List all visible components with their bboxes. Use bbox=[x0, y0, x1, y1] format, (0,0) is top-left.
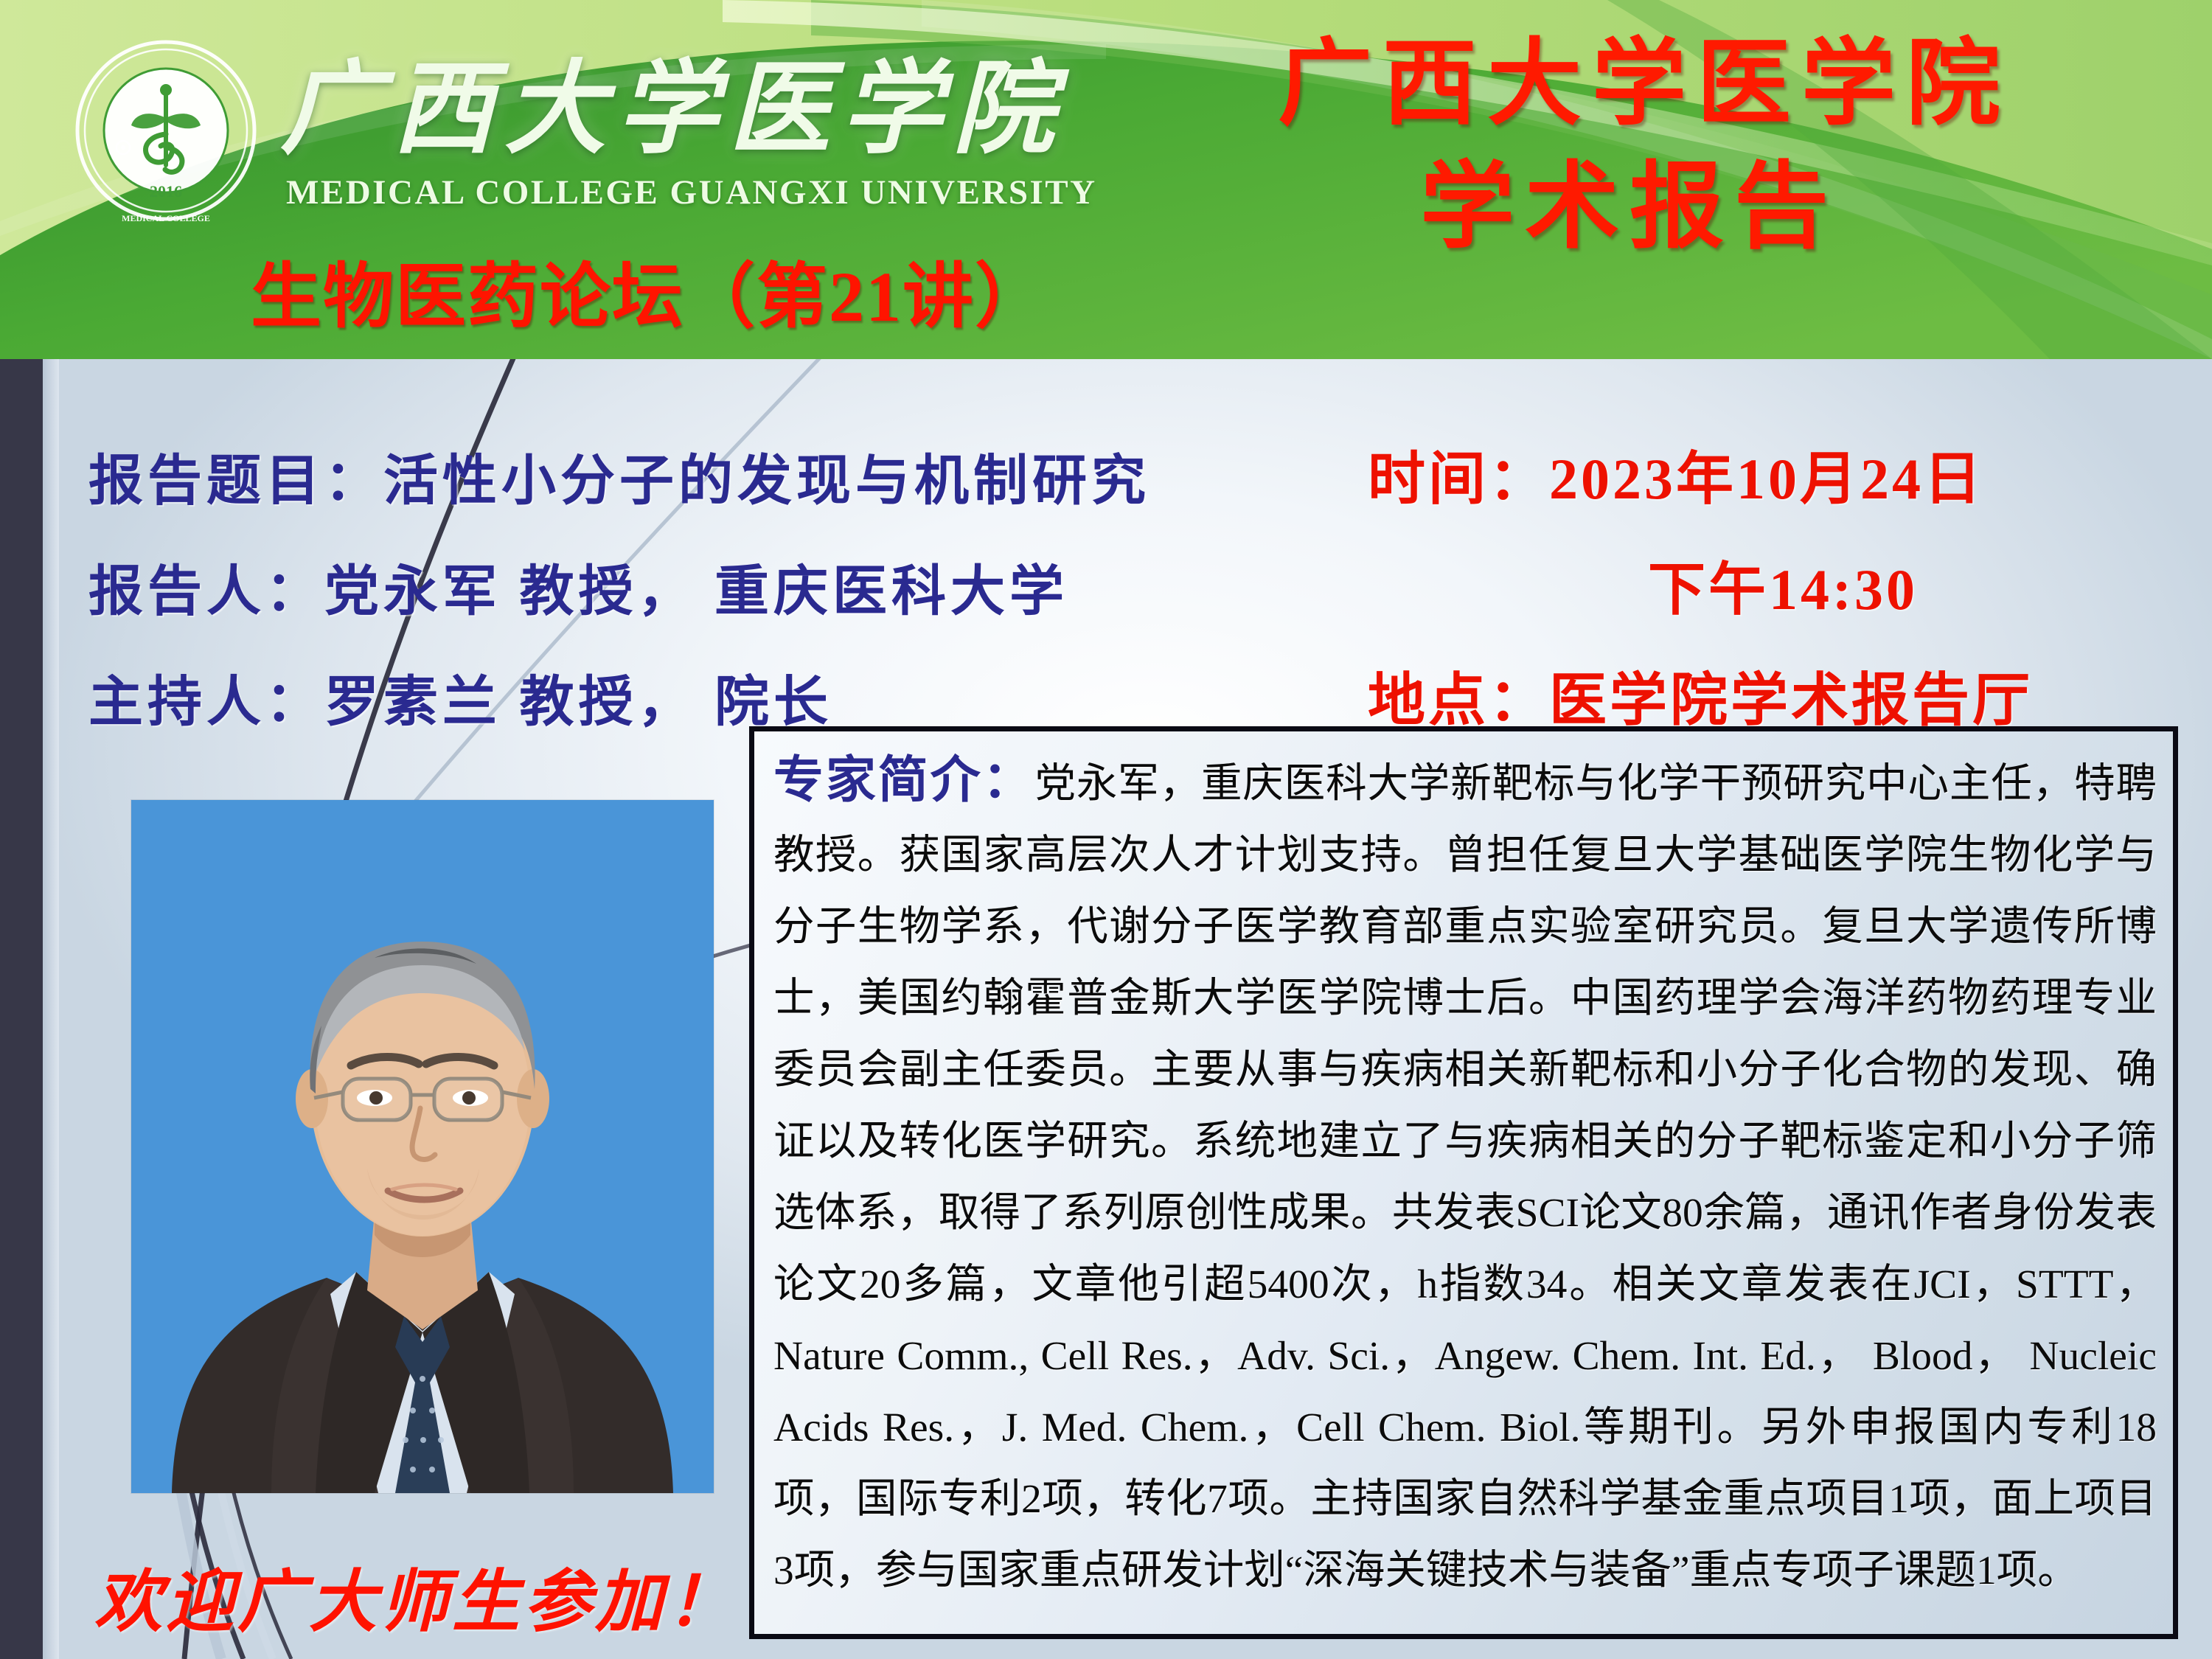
place-value: 医学院学术报告厅 bbox=[1549, 668, 2033, 732]
place-label: 地点： bbox=[1368, 668, 1549, 732]
svg-text:MEDICAL COLLEGE: MEDICAL COLLEGE bbox=[122, 213, 210, 223]
welcome-message: 欢迎广大师生参加！ bbox=[94, 1547, 728, 1645]
college-emblem-logo: 2016 MEDICAL COLLEGE bbox=[74, 38, 258, 223]
datetime-row: 时间：2023年10月24日 bbox=[1368, 433, 1984, 515]
poster-heading-line1: 广西大学医学院 bbox=[1150, 35, 2138, 133]
speaker-portrait-photo bbox=[131, 800, 714, 1493]
time-date-value: 2023年10月24日 bbox=[1549, 447, 1984, 511]
host-value: 罗素兰 教授， 院长 bbox=[324, 672, 832, 733]
speaker-bio-box: 专家简介：党永军，重庆医科大学新靶标与化学干预研究中心主任，特聘教授。获国家高层… bbox=[749, 726, 2178, 1639]
venue-row: 地点：医学院学术报告厅 bbox=[1368, 654, 2033, 737]
host-row: 主持人：罗素兰 教授， 院长 bbox=[88, 658, 832, 737]
speaker-bio-text: 专家简介：党永军，重庆医科大学新靶标与化学干预研究中心主任，特聘教授。获国家高层… bbox=[773, 745, 2157, 1607]
header-banner: 2016 MEDICAL COLLEGE 广西大学医学院 MEDICAL COL… bbox=[0, 0, 2212, 359]
speaker-label: 报告人： bbox=[88, 562, 324, 622]
speaker-row: 报告人：党永军 教授， 重庆医科大学 bbox=[88, 547, 1068, 626]
speaker-bio-body: 党永军，重庆医科大学新靶标与化学干预研究中心主任，特聘教授。获国家高层次人才计划… bbox=[773, 762, 2157, 1593]
speaker-value: 党永军 教授， 重庆医科大学 bbox=[324, 562, 1068, 622]
talk-title-row: 报告题目：活性小分子的发现与机制研究 bbox=[88, 437, 1150, 515]
talk-title-label: 报告题目： bbox=[88, 451, 383, 512]
talk-info-block: 报告题目：活性小分子的发现与机制研究 报告人：党永军 教授， 重庆医科大学 主持… bbox=[0, 359, 2212, 742]
talk-title-value: 活性小分子的发现与机制研究 bbox=[383, 451, 1150, 512]
college-name-en: MEDICAL COLLEGE GUANGXI UNIVERSITY bbox=[286, 175, 1097, 210]
forum-series-title: 生物医药论坛（第21讲） bbox=[251, 262, 1047, 333]
speaker-bio-heading: 专家简介： bbox=[773, 752, 1034, 808]
svg-text:2016: 2016 bbox=[150, 182, 182, 201]
time-label: 时间： bbox=[1368, 447, 1549, 511]
time-clock-value: 下午14:30 bbox=[1648, 557, 1918, 622]
poster-root: 2016 MEDICAL COLLEGE 广西大学医学院 MEDICAL COL… bbox=[0, 0, 2212, 1659]
host-label: 主持人： bbox=[88, 672, 324, 733]
poster-heading-line2: 学术报告 bbox=[1150, 159, 2109, 257]
clock-row: 下午14:30 bbox=[1648, 543, 1918, 626]
college-name-cn: 广西大学医学院 bbox=[280, 59, 1065, 161]
